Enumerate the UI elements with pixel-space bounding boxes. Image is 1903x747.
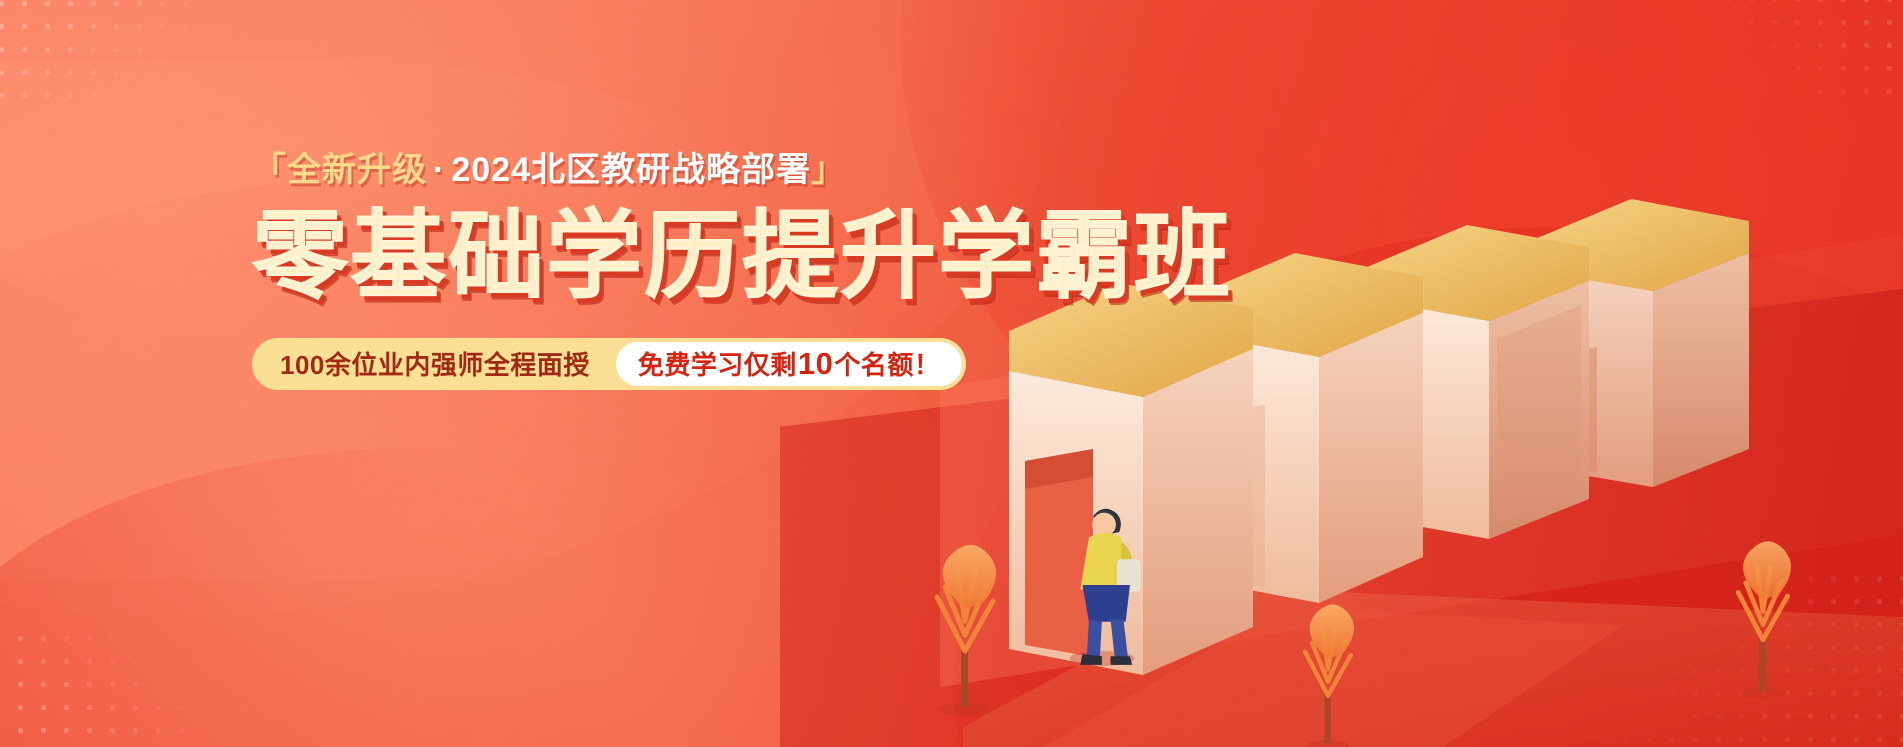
subtitle-white-text: 2024北区教研战略部署 (451, 151, 811, 189)
background-swoosh-bottom (0, 447, 840, 747)
badge-remaining-slots: 免费学习仅剩10个名额！ (616, 342, 963, 386)
subtitle-open-bracket: 「 (252, 151, 287, 189)
badge-suffix-text: 个名额！ (834, 345, 940, 382)
subtitle-gold-text: 全新升级 (287, 151, 427, 189)
top-left-dot-grid (0, 0, 190, 112)
bottom-left-dot-grid (0, 627, 196, 747)
badge-slot-count: 10 (797, 346, 834, 382)
banner-headline: 零基础学历提升学霸班 (252, 206, 1072, 308)
top-right-dot-grid (1717, 0, 1897, 98)
banner-copy-block: 「全新升级·2024北区教研战略部署」 零基础学历提升学霸班 100余位业内强师… (252, 150, 1072, 390)
subtitle-separator-dot: · (427, 151, 451, 189)
subtitle-close-bracket: 」 (811, 151, 846, 189)
badge-prefix-text: 免费学习仅剩 (638, 345, 797, 382)
autumn-tree (937, 545, 996, 715)
promo-banner: 「全新升级·2024北区教研战略部署」 零基础学历提升学霸班 100余位业内强师… (0, 0, 1903, 747)
badge-teachers-label: 100余位业内强师全程面授 (280, 345, 616, 382)
banner-subtitle: 「全新升级·2024北区教研战略部署」 (252, 150, 1072, 190)
banner-badge-row: 100余位业内强师全程面授 免费学习仅剩10个名额！ (252, 338, 966, 390)
